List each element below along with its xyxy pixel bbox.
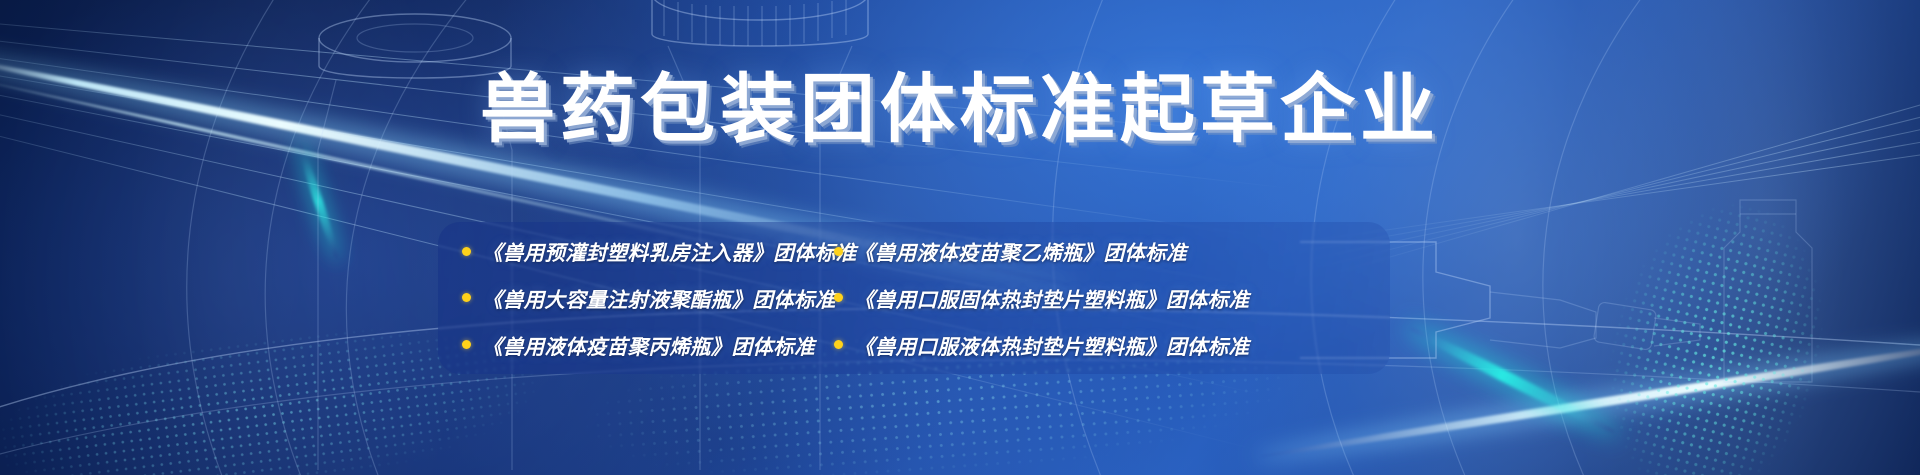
- bullet-dot-icon: [834, 247, 843, 256]
- banner-title: 兽药包装团体标准起草企业: [0, 72, 1920, 147]
- standard-label: 《兽用预灌封塑料乳房注入器》团体标准: [482, 236, 856, 266]
- bullet-dot-icon: [462, 247, 471, 256]
- standard-label: 《兽用液体疫苗聚丙烯瓶》团体标准: [482, 330, 815, 360]
- banner-content: 兽药包装团体标准起草企业 《兽用预灌封塑料乳房注入器》团体标准 《兽用液体疫苗聚…: [0, 0, 1920, 475]
- standard-label: 《兽用口服固体热封垫片塑料瓶》团体标准: [854, 283, 1249, 313]
- standards-list: 《兽用预灌封塑料乳房注入器》团体标准 《兽用液体疫苗聚乙烯瓶》团体标准 《兽用大…: [438, 222, 1390, 374]
- list-item: 《兽用口服固体热封垫片塑料瓶》团体标准: [834, 283, 1390, 313]
- list-item: 《兽用口服液体热封垫片塑料瓶》团体标准: [834, 330, 1390, 360]
- standard-label: 《兽用大容量注射液聚酯瓶》团体标准: [482, 283, 836, 313]
- list-item: 《兽用液体疫苗聚丙烯瓶》团体标准: [462, 330, 834, 360]
- bullet-dot-icon: [834, 340, 843, 349]
- list-item: 《兽用大容量注射液聚酯瓶》团体标准: [462, 283, 834, 313]
- standards-panel: 《兽用预灌封塑料乳房注入器》团体标准 《兽用液体疫苗聚乙烯瓶》团体标准 《兽用大…: [438, 222, 1390, 374]
- bullet-dot-icon: [462, 293, 471, 302]
- list-item: 《兽用预灌封塑料乳房注入器》团体标准: [462, 236, 834, 266]
- bullet-dot-icon: [462, 340, 471, 349]
- standard-label: 《兽用口服液体热封垫片塑料瓶》团体标准: [854, 330, 1249, 360]
- bullet-dot-icon: [834, 293, 843, 302]
- list-item: 《兽用液体疫苗聚乙烯瓶》团体标准: [834, 236, 1390, 266]
- promotional-banner: 兽药包装团体标准起草企业 《兽用预灌封塑料乳房注入器》团体标准 《兽用液体疫苗聚…: [0, 0, 1920, 475]
- standard-label: 《兽用液体疫苗聚乙烯瓶》团体标准: [854, 236, 1187, 266]
